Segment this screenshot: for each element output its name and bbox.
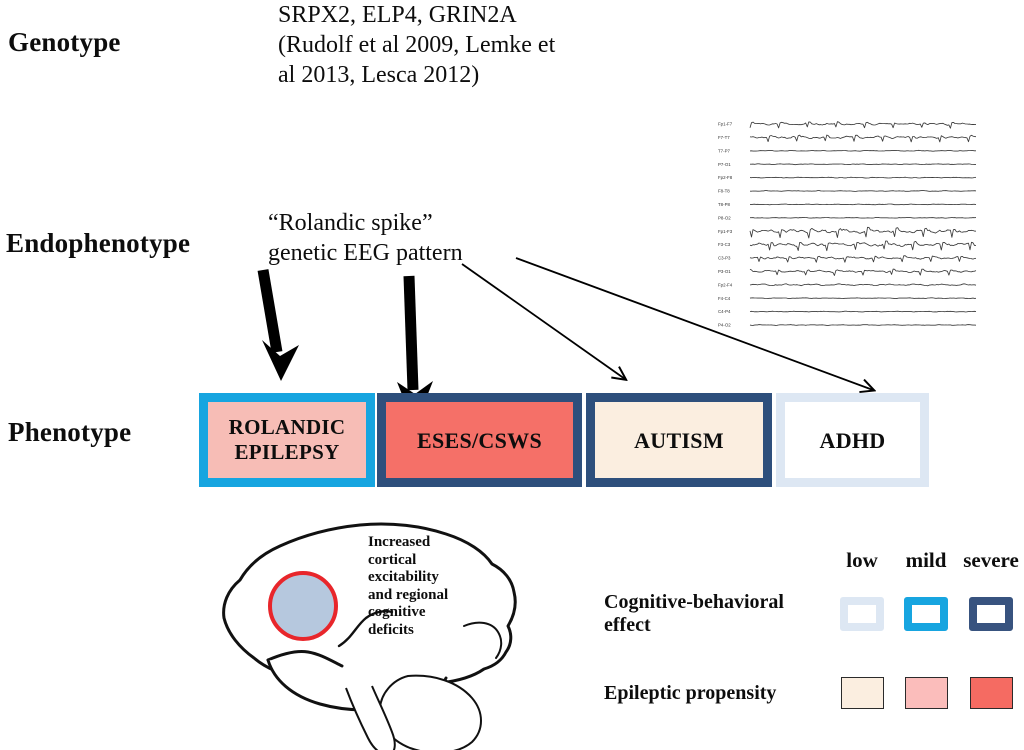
phenotype-box-eses-csws[interactable]: ESES/CSWS xyxy=(377,393,582,487)
legend-swatch-cognitive-severe xyxy=(969,597,1013,631)
eeg-channel-label: P8-O2 xyxy=(718,215,731,220)
legend-swatch-cell xyxy=(830,663,894,709)
eeg-channel-label: C3-P3 xyxy=(718,256,731,261)
eeg-channel-label: P4-O2 xyxy=(718,323,731,328)
eeg-channel-label: F8-T8 xyxy=(718,189,730,194)
eeg-trace xyxy=(750,204,976,205)
brain-annotation-text: Increased cortical excitability and regi… xyxy=(368,534,478,639)
eeg-trace xyxy=(750,164,976,165)
genotype-text-block: SRPX2, ELP4, GRIN2A (Rudolf et al 2009, … xyxy=(278,0,648,90)
eeg-trace xyxy=(750,311,976,312)
eeg-trace xyxy=(750,325,976,326)
eeg-channel-label: F7-T7 xyxy=(718,135,730,140)
legend-row-label-epileptic-propensity: Epileptic propensity xyxy=(604,668,830,705)
arrow-to-rolandic xyxy=(262,270,299,381)
diagram-canvas: Genotype Endophenotype Phenotype SRPX2, … xyxy=(0,0,1024,750)
eeg-channel-label: T7-P7 xyxy=(718,148,731,153)
legend-swatch-cell xyxy=(830,589,894,657)
phenotype-box-label: ESES/CSWS xyxy=(413,428,546,453)
legend-swatch-cell xyxy=(958,589,1024,657)
eeg-trace xyxy=(750,284,976,286)
eeg-channel-label: F3-C3 xyxy=(718,242,731,247)
endophenotype-line-1: “Rolandic spike” xyxy=(268,208,598,238)
phenotype-box-adhd[interactable]: ADHD xyxy=(776,393,929,487)
phenotype-box-label: ADHD xyxy=(816,428,890,453)
phenotype-box-label: ROLANDIC EPILEPSY xyxy=(225,415,350,465)
legend-row-label-cognitive-behavioral-effect: Cognitive-behavioral effect xyxy=(604,583,830,663)
legend-swatch-epileptic-severe xyxy=(970,677,1013,709)
legend-swatch-epileptic-low xyxy=(841,677,884,709)
genotype-citation-line-1: (Rudolf et al 2009, Lemke et xyxy=(278,30,648,60)
legend-header-severe: severe xyxy=(958,548,1024,583)
genotype-genes: SRPX2, ELP4, GRIN2A xyxy=(278,0,648,30)
eeg-trace xyxy=(750,191,976,192)
phenotype-box-row: ROLANDIC EPILEPSY ESES/CSWS AUTISM ADHD xyxy=(199,393,929,487)
legend-header-mild: mild xyxy=(894,548,958,583)
row-label-endophenotype: Endophenotype xyxy=(6,228,190,259)
genotype-citation-line-2: al 2013, Lesca 2012) xyxy=(278,60,648,90)
eeg-trace xyxy=(750,150,976,151)
row-label-genotype: Genotype xyxy=(8,27,121,58)
phenotype-box-rolandic-epilepsy[interactable]: ROLANDIC EPILEPSY xyxy=(199,393,375,487)
endophenotype-line-2: genetic EEG pattern xyxy=(268,238,598,268)
eeg-channel-label: Fp2-F4 xyxy=(718,282,733,287)
legend-header-low: low xyxy=(830,548,894,583)
phenotype-box-label: AUTISM xyxy=(630,428,728,453)
eeg-channel-label: C4-P4 xyxy=(718,309,731,314)
eeg-channel-label: P3-O1 xyxy=(718,269,731,274)
legend-swatch-epileptic-mild xyxy=(905,677,948,709)
eeg-trace xyxy=(750,227,976,238)
endophenotype-text-block: “Rolandic spike” genetic EEG pattern xyxy=(268,208,598,268)
legend-swatch-cell xyxy=(894,663,958,709)
eeg-trace xyxy=(750,217,976,218)
eeg-channel-label: F4-C4 xyxy=(718,296,731,301)
arrow-to-autism xyxy=(462,264,625,379)
eeg-trace xyxy=(750,135,976,142)
eeg-channel-label: Fp1-F3 xyxy=(718,229,733,234)
eeg-channel-label: Fp1-F7 xyxy=(718,122,733,127)
eeg-trace xyxy=(750,298,976,299)
legend-swatch-cell xyxy=(894,589,958,657)
eeg-channel-label: Fp2-F8 xyxy=(718,175,733,180)
eeg-trace xyxy=(750,122,976,129)
legend: low mild severe Cognitive-behavioral eff… xyxy=(604,548,1024,709)
eeg-trace xyxy=(750,256,976,263)
eeg-channel-label: P7-O1 xyxy=(718,162,731,167)
legend-swatch-cognitive-mild xyxy=(904,597,948,631)
eeg-trace xyxy=(750,269,976,275)
rolandic-focus-region xyxy=(270,573,336,639)
row-label-phenotype: Phenotype xyxy=(8,417,131,448)
eeg-trace-panel: Fp1-F7F7-T7T7-P7P7-O1Fp2-F8F8-T8T8-P8P8-… xyxy=(714,112,984,344)
eeg-trace xyxy=(750,177,976,178)
legend-swatch-cognitive-low xyxy=(840,597,884,631)
legend-swatch-cell xyxy=(958,663,1024,709)
phenotype-box-autism[interactable]: AUTISM xyxy=(586,393,772,487)
eeg-trace xyxy=(750,241,976,251)
eeg-channel-label: T8-P8 xyxy=(718,202,731,207)
